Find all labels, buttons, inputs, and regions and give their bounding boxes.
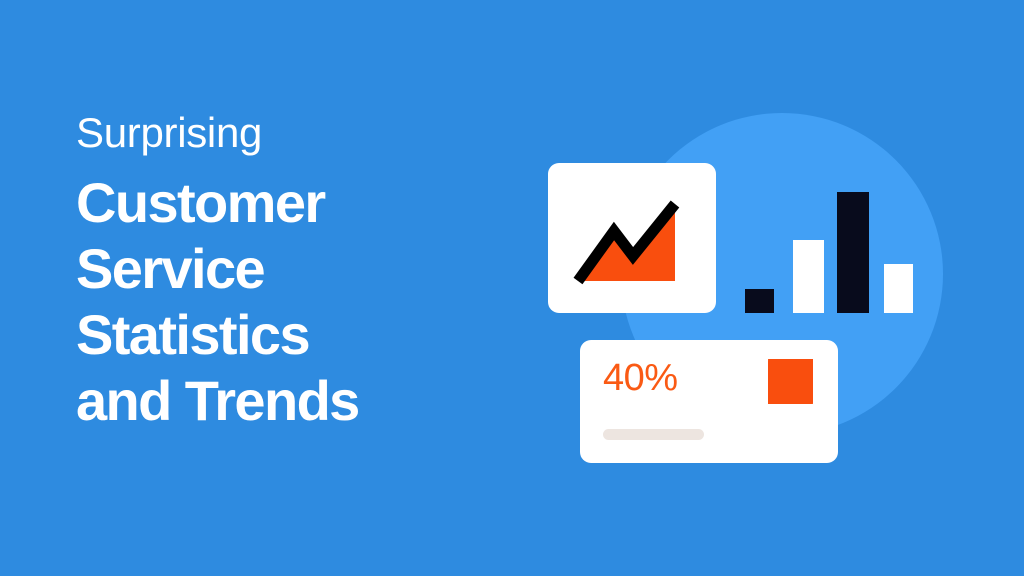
bar-chart: [745, 192, 913, 313]
progress-bar-track: [603, 429, 704, 440]
stat-card: 40%: [580, 340, 838, 463]
bar-3: [837, 192, 869, 313]
pie-chart-icon: [723, 359, 813, 449]
title-line-1: Customer: [76, 170, 506, 236]
bar-2: [793, 240, 824, 313]
eyebrow-text: Surprising: [76, 112, 506, 154]
pie-slice-major: [768, 359, 813, 404]
poster-canvas: Surprising Customer Service Statistics a…: [0, 0, 1024, 576]
bar-4: [884, 264, 913, 313]
percent-value: 40%: [603, 359, 678, 397]
pie-chart: [723, 359, 813, 449]
title-line-2: Service: [76, 236, 506, 302]
headline-block: Surprising Customer Service Statistics a…: [76, 112, 506, 434]
title-line-3: Statistics: [76, 302, 506, 368]
title-line-4: and Trends: [76, 368, 506, 434]
line-chart-card: [548, 163, 716, 313]
bar-1: [745, 289, 774, 313]
page-title: Customer Service Statistics and Trends: [76, 170, 506, 434]
trend-line-area-chart-icon: [548, 163, 716, 313]
